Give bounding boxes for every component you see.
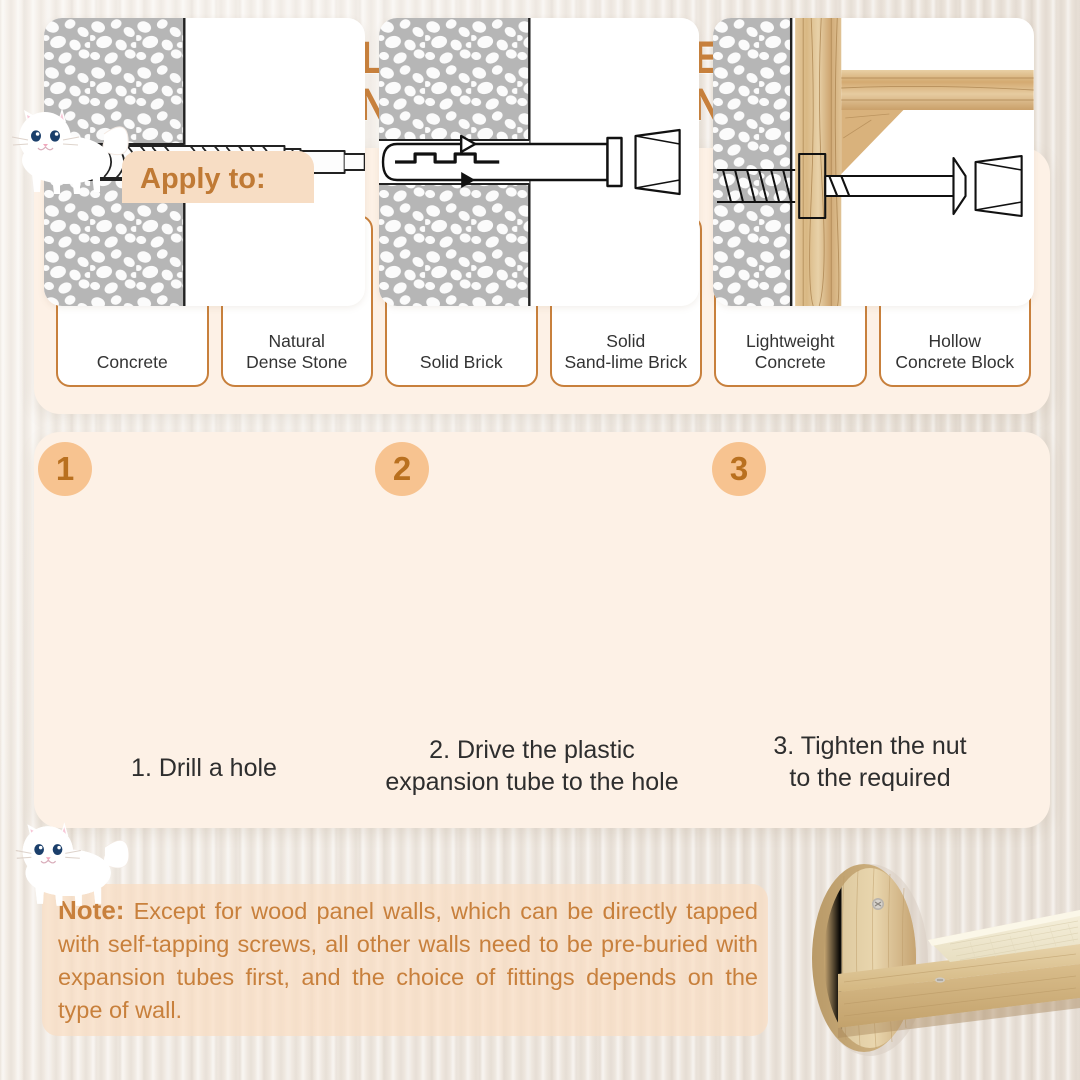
step-caption-3-line-2: to the required	[700, 762, 1040, 794]
step-caption-2-line-1: 2. Drive the plastic	[362, 734, 702, 766]
material-label: SolidSand-lime Brick	[556, 331, 697, 373]
apply-to-label: Apply to:	[140, 163, 266, 196]
material-label: Concrete	[62, 352, 203, 373]
step-badge-3: 3	[712, 442, 766, 496]
material-label: HollowConcrete Block	[885, 331, 1026, 373]
note-body: Except for wood panel walls, which can b…	[58, 898, 758, 1023]
step-caption-2-line-2: expansion tube to the hole	[362, 766, 702, 798]
step-figure-3	[713, 18, 1034, 306]
step-badge-2: 2	[375, 442, 429, 496]
material-label: Solid Brick	[391, 352, 532, 373]
screw-through-wood-panel-icon	[713, 18, 1034, 306]
step-caption-3: 3. Tighten the nut to the required	[700, 730, 1040, 794]
step-caption-3-line-1: 3. Tighten the nut	[700, 730, 1040, 762]
plastic-expansion-tube-icon	[379, 18, 700, 306]
step-badge-1: 1	[38, 442, 92, 496]
white-cat-icon	[8, 108, 136, 198]
step-caption-2: 2. Drive the plastic expansion tube to t…	[362, 734, 702, 798]
material-label: LightweightConcrete	[720, 331, 861, 373]
step-figure-2	[379, 18, 700, 306]
note-text: Note: Except for wood panel walls, which…	[58, 894, 758, 1027]
white-cat-icon	[12, 822, 136, 910]
step-caption-1-line-1: 1. Drill a hole	[131, 754, 277, 782]
wooden-wall-shelf-photo	[800, 832, 1080, 1080]
material-label: NaturalDense Stone	[227, 331, 368, 373]
apply-to-tab: Apply to:	[122, 151, 314, 207]
step-caption-1: 1. Drill a hole	[44, 752, 364, 784]
